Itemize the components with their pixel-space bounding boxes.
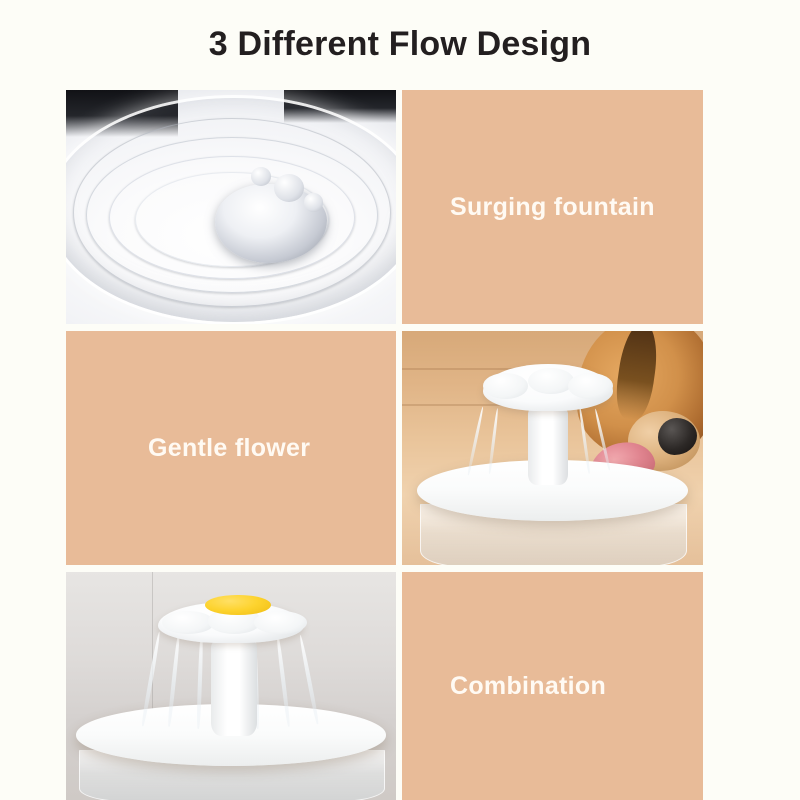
fountain-stem <box>211 640 257 736</box>
surging-fountain-photo <box>66 90 396 324</box>
surging-fountain-label-text: Surging fountain <box>402 193 655 222</box>
fountain-stem <box>528 408 567 485</box>
flower-petal <box>568 373 613 399</box>
combination-label: Combination <box>402 572 703 800</box>
gentle-flower-label-text: Gentle flower <box>66 434 310 463</box>
water-droplet <box>274 174 304 202</box>
combination-label-text: Combination <box>402 672 606 701</box>
wall-edge <box>152 572 153 718</box>
flower-petal <box>483 373 528 399</box>
flower-petal <box>254 611 307 634</box>
page-title: 3 Different Flow Design <box>209 25 591 64</box>
poster-header: 3 Different Flow Design <box>0 0 800 88</box>
gentle-flower-photo <box>402 331 703 565</box>
yellow-center-piece <box>205 595 271 616</box>
water-droplet <box>251 167 271 186</box>
surging-fountain-label: Surging fountain <box>402 90 703 324</box>
flower-petal <box>528 368 573 394</box>
gentle-flower-label: Gentle flower <box>66 331 396 565</box>
feature-grid: Surging fountain Gentle flower <box>66 90 697 800</box>
water-droplet <box>304 193 324 212</box>
flower-petal <box>162 611 215 634</box>
combination-photo <box>66 572 396 800</box>
product-feature-poster: 3 Different Flow Design Surging fountain… <box>0 0 800 800</box>
